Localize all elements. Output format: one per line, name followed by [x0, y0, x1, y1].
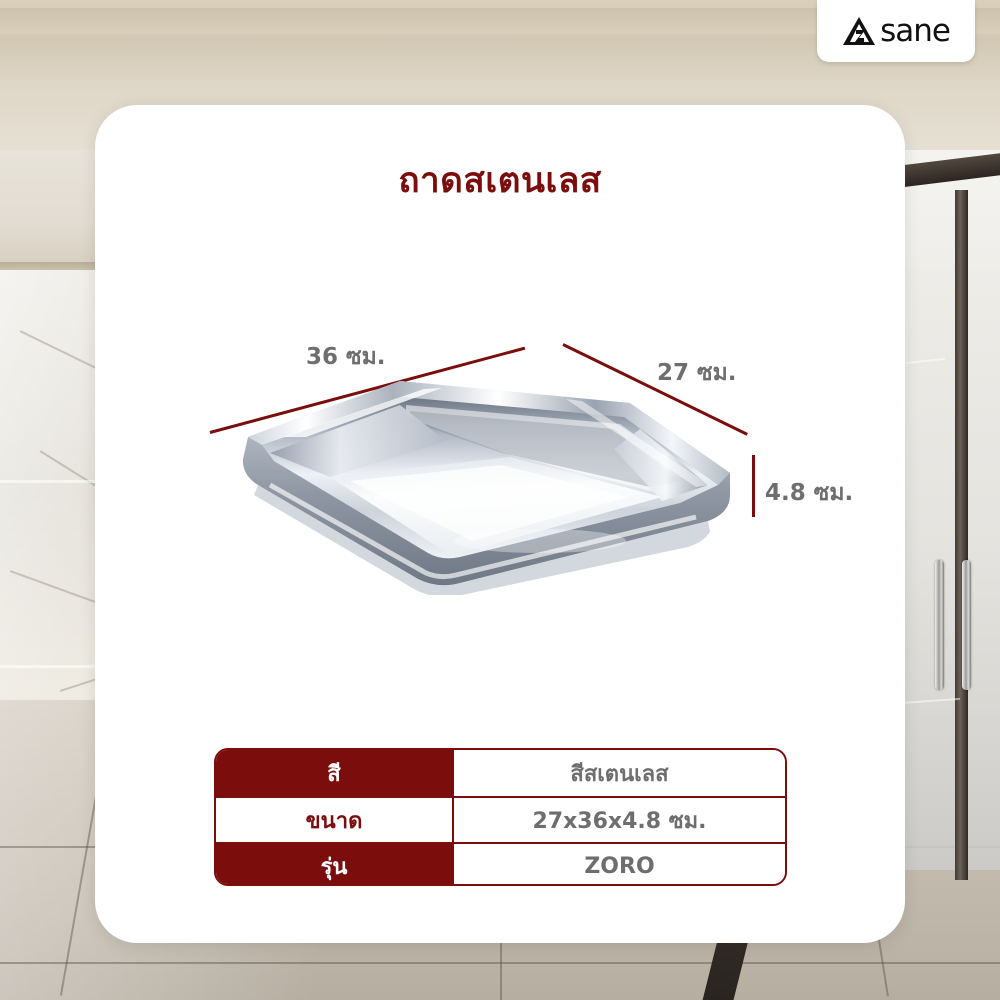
triangle-s-logo-icon	[842, 16, 876, 46]
dimension-label-height: 4.8 ซม.	[765, 475, 853, 511]
door-handle-right	[962, 560, 971, 690]
table-row: รุ่น ZORO	[216, 842, 785, 886]
brand-logo: sane	[817, 0, 975, 62]
spec-value-model: ZORO	[454, 844, 785, 886]
dimension-line-height	[752, 455, 755, 517]
door-mullion	[955, 190, 968, 880]
stainless-steel-tray	[210, 345, 750, 595]
table-row: สี สีสเตนเลส	[216, 750, 785, 796]
product-card: ถาดสเตนเลส 36 ซม. 27 ซม. 4.8 ซม.	[95, 105, 905, 943]
spec-value-color: สีสเตนเลส	[454, 750, 785, 796]
door-handle-left	[935, 560, 944, 690]
product-illustration: 36 ซม. 27 ซม. 4.8 ซม.	[95, 105, 905, 665]
spec-value-size: 27x36x4.8 ซม.	[454, 798, 785, 842]
spec-label-model: รุ่น	[216, 844, 454, 886]
spec-label-color: สี	[216, 750, 454, 796]
table-row: ขนาด 27x36x4.8 ซม.	[216, 796, 785, 842]
spec-label-size: ขนาด	[216, 798, 454, 842]
specification-table: สี สีสเตนเลส ขนาด 27x36x4.8 ซม. รุ่น ZOR…	[214, 748, 787, 886]
brand-name: sane	[880, 13, 950, 49]
